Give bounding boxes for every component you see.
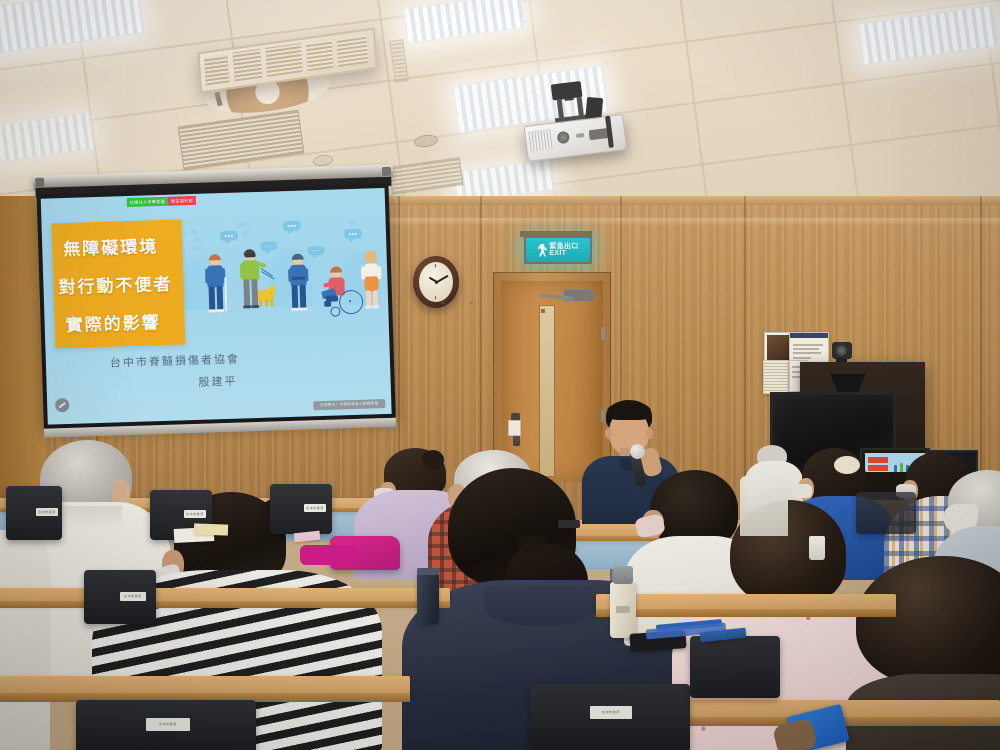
clock-minute-hand: [436, 275, 448, 283]
chair-tag-text: 台中市政府: [186, 513, 204, 516]
attendee-7-hair-clip: [834, 456, 860, 474]
slide-figure-person-in-wheelchair: [319, 267, 360, 314]
chair-back-right[interactable]: 台中市政府: [270, 484, 332, 536]
projection-screen-assembly: 社團法人中華民國 衛生福利部: [33, 165, 401, 448]
speech-bubble-1: [220, 231, 238, 242]
conference-camera: [832, 342, 852, 359]
slide-wheelchair-wheel: [339, 290, 364, 315]
chair-tag-text: 台中市政府: [306, 507, 324, 510]
screen-border: 社團法人中華民國 衛生福利部: [37, 184, 396, 429]
lecture-room-photo: 緊急出口 EXIT: [0, 0, 1000, 750]
presentation-slide: 社團法人中華民國 衛生福利部: [41, 188, 392, 425]
slide-figure-person-with-guide-dog: [238, 250, 274, 317]
exit-sign-label: EXIT: [549, 250, 566, 257]
chair-back-left[interactable]: 台中市政府: [6, 486, 62, 542]
paper-on-table-2[interactable]: [194, 523, 228, 535]
ceiling-projector: [516, 80, 635, 173]
chair-right-mid[interactable]: [690, 636, 780, 700]
running-man-icon: [537, 244, 547, 257]
chair-label-tag: 台中市政府: [36, 508, 58, 516]
pink-bag-strap: [300, 545, 356, 565]
speech-bubble-3: [283, 221, 301, 232]
thermos-flask-dark[interactable]: [417, 572, 439, 624]
attendee-5-hood: [484, 586, 596, 626]
slide-title-line-3: 實際的影響: [65, 312, 161, 336]
exit-sign-sub: 緊急出口: [549, 243, 578, 250]
attendee-white-jacket-body: [740, 476, 788, 536]
microphone-head: [630, 444, 645, 459]
attendee-7-mask: [792, 484, 812, 498]
paper-cup[interactable]: [809, 536, 825, 560]
table-row-mid: [0, 588, 450, 668]
slide-corner-badge: 主辦單位：中華民國身心障礙聯盟: [313, 399, 385, 410]
chair-mid-left[interactable]: 台中市政府: [84, 570, 156, 626]
attendee-5-hair-tie: [518, 536, 546, 552]
emergency-exit-sign: 緊急出口 EXIT: [524, 236, 592, 264]
slide-banner-green: 社團法人中華民國: [127, 197, 168, 207]
chair-tag-text: 台中市政府: [38, 511, 56, 514]
chair-front-left[interactable]: 台中市政府: [76, 700, 256, 750]
speech-bubble-5: [344, 229, 362, 240]
slide-title-box: 無障礙環境 對行動不便者 實際的影響: [51, 219, 185, 348]
slide-figure-person-right: [361, 252, 385, 311]
slide-logo-icon: [55, 398, 69, 412]
chair-front-center[interactable]: 台中市政府: [530, 684, 690, 750]
slide-figure-person-with-cane: [203, 255, 231, 316]
slide-title-line-2: 對行動不便者: [58, 274, 173, 299]
chair-right-back[interactable]: [856, 492, 916, 536]
wall-clock: [413, 256, 459, 308]
remote-control[interactable]: [558, 520, 580, 528]
slide-subtitle-line-1: 台中市脊髓損傷者協會: [110, 351, 240, 371]
slide-banner-green-label: 社團法人中華民國: [130, 199, 165, 204]
slide-title-line-1: 無障礙環境: [63, 236, 159, 260]
wall-poster-3: [763, 360, 789, 394]
slide-top-banner: 社團法人中華民國 衛生福利部: [127, 196, 196, 207]
slide-banner-red-label: 衛生福利部: [171, 198, 193, 203]
wall-notice-small: [508, 420, 521, 436]
exit-sign-mount: [520, 231, 592, 237]
thermos-label: [616, 606, 630, 613]
slide-subtitle-line-2: 殷建平: [198, 373, 237, 390]
chair-tag-text: 台中市政府: [124, 595, 142, 598]
slide-banner-red: 衛生福利部: [168, 196, 196, 206]
chair-tag-text: 台中市政府: [602, 711, 620, 714]
chair-label-tag: 台中市政府: [590, 706, 632, 719]
slide-corner-badge-text: 主辦單位：中華民國身心障礙聯盟: [320, 401, 379, 408]
chair-tag-text: 台中市政府: [159, 723, 177, 726]
slide-figure-person-standing: [287, 254, 313, 313]
